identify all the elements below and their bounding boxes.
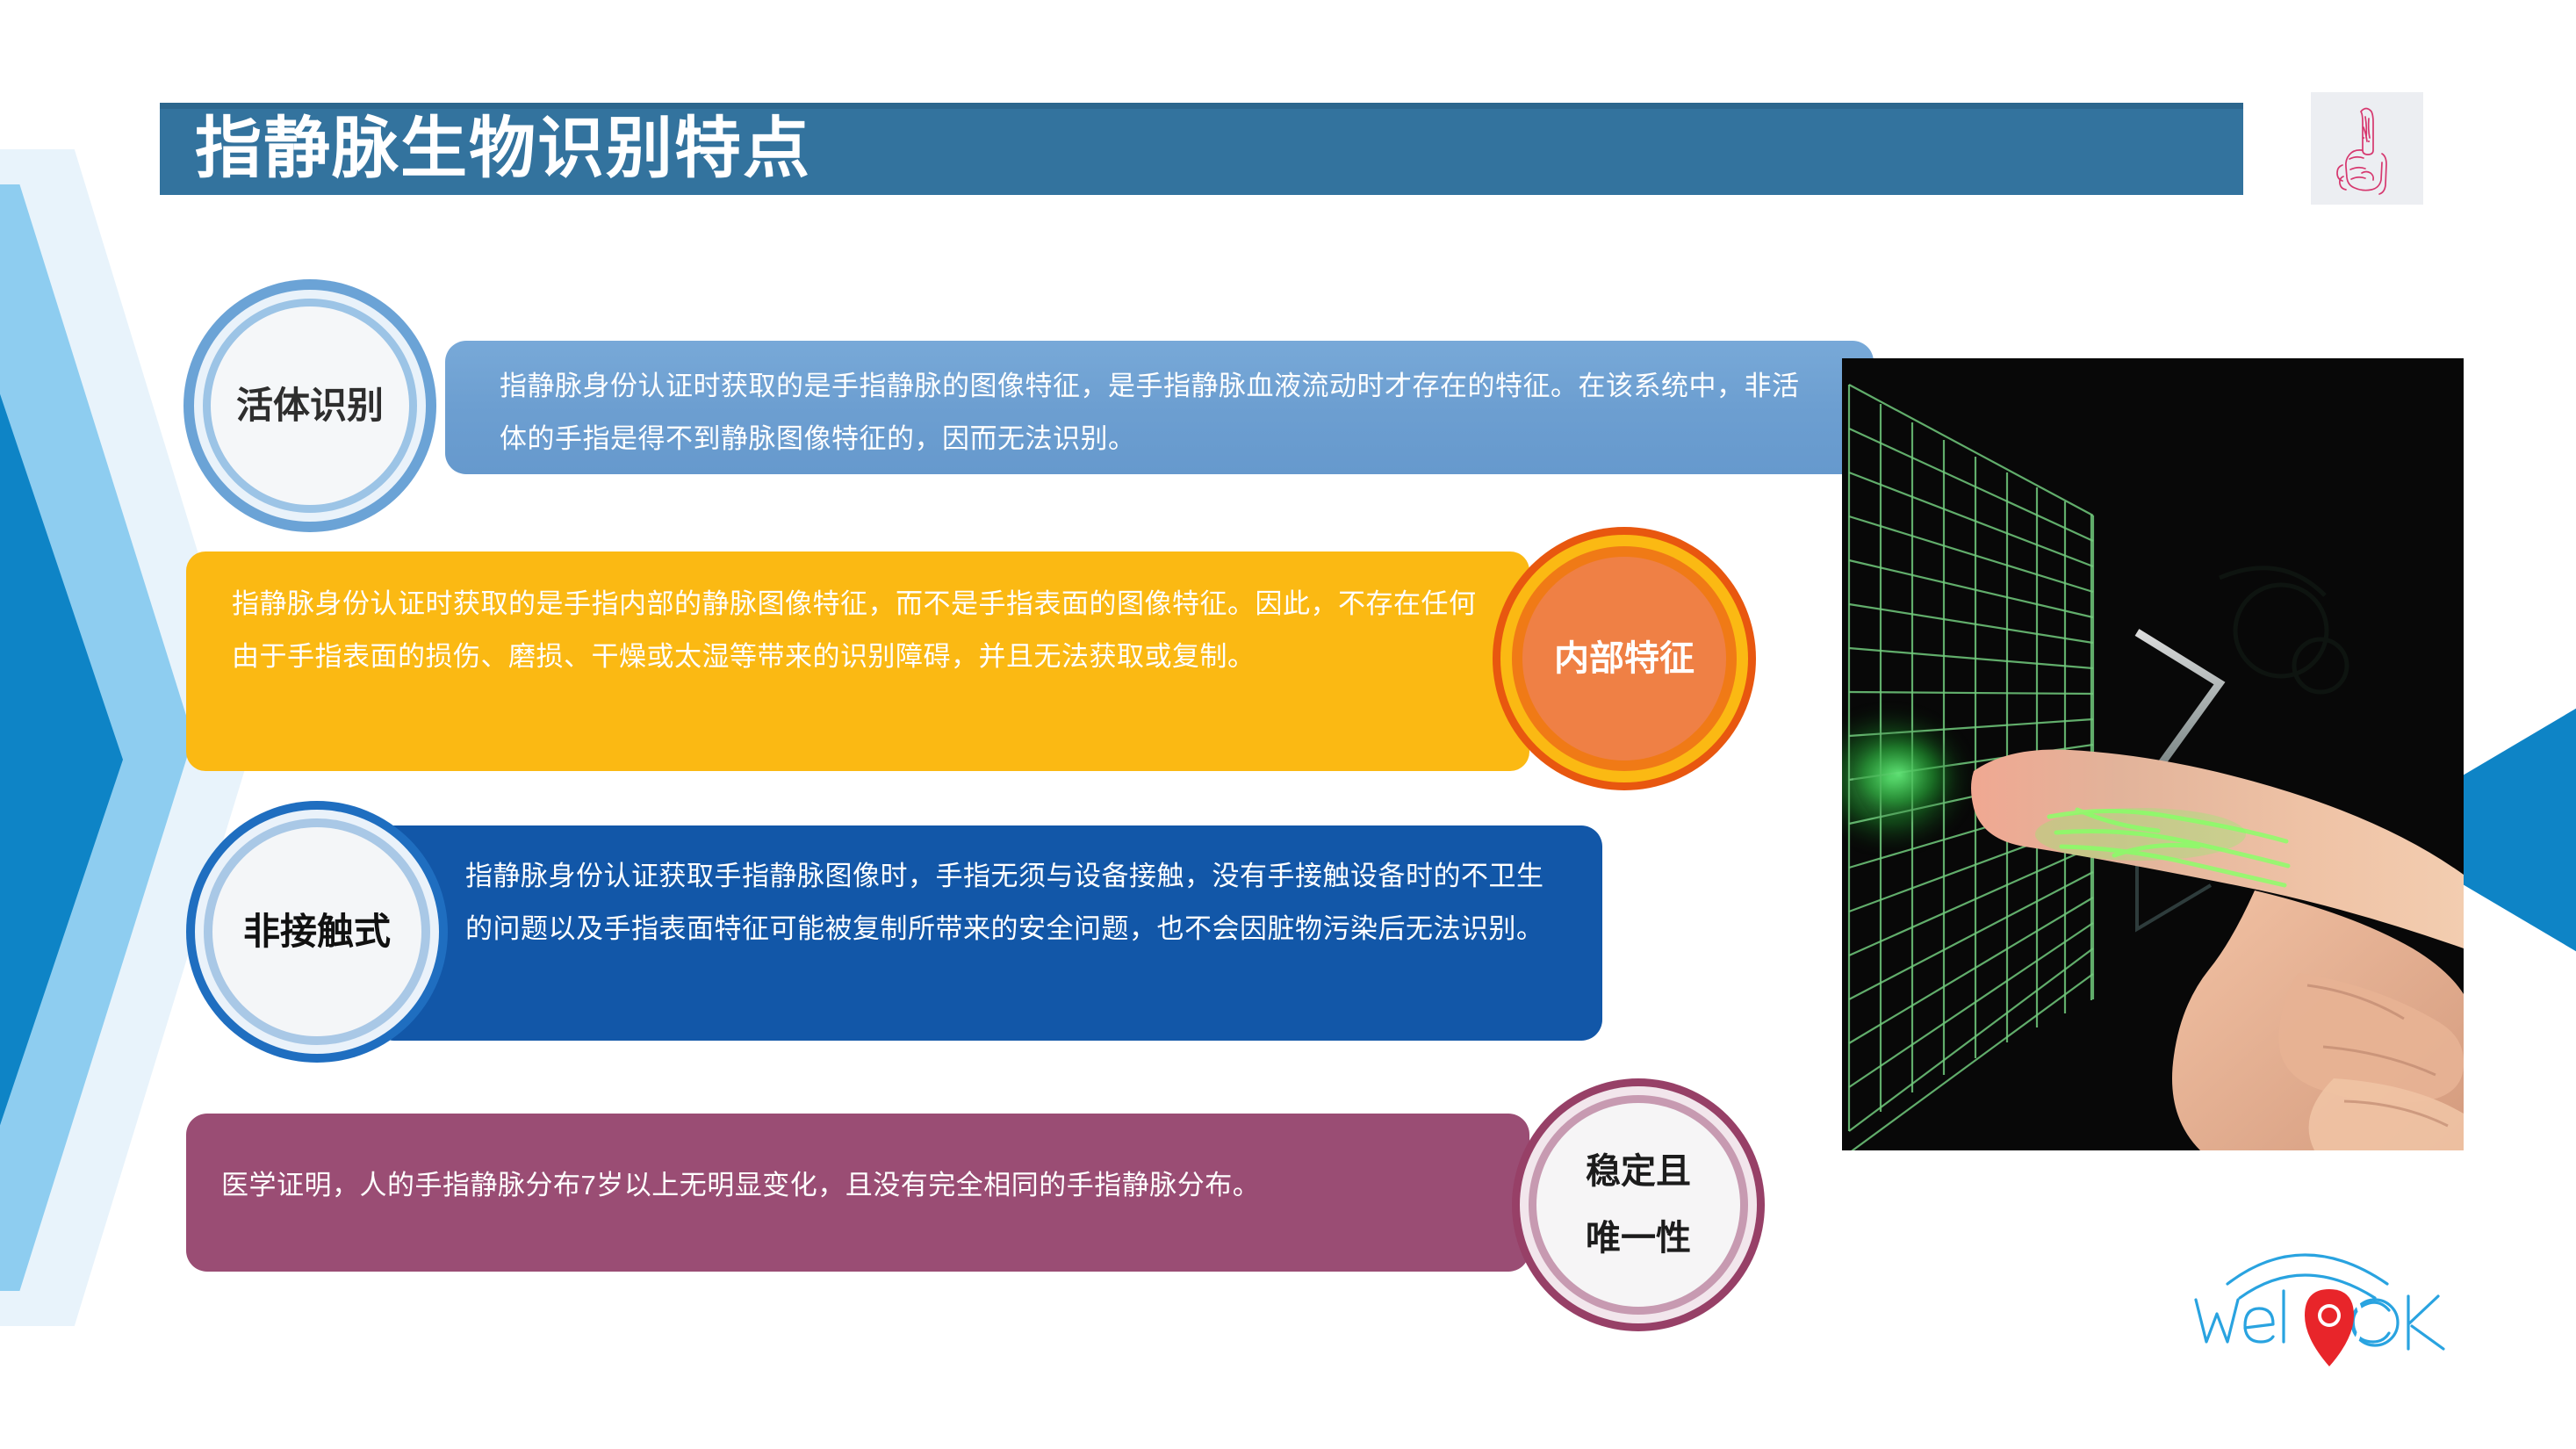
welock-logo xyxy=(2191,1245,2463,1377)
raised-index-finger-vein-icon xyxy=(2311,92,2423,205)
page-title: 指静脉生物识别特点 xyxy=(195,116,811,183)
row-bar-stable-unique: 医学证明，人的手指静脉分布7岁以上无明显变化，且没有完全相同的手指静脉分布。 xyxy=(186,1114,1529,1272)
page-title-bar: 指静脉生物识别特点 xyxy=(160,103,2243,195)
finger-vein-scan-photo xyxy=(1842,358,2464,1150)
badge-label-contactless: 非接触式 xyxy=(243,903,391,960)
row-text-internal-feature: 指静脉身份认证时获取的是手指内部的静脉图像特征，而不是手指表面的图像特征。因此，… xyxy=(232,578,1483,684)
row-bar-contactless: 指静脉身份认证获取手指静脉图像时，手指无须与设备接触，没有手接触设备时的不卫生的… xyxy=(373,825,1602,1041)
row-bar-internal-feature: 指静脉身份认证时获取的是手指内部的静脉图像特征，而不是手指表面的图像特征。因此，… xyxy=(186,551,1529,771)
badge-contactless[interactable]: 非接触式 xyxy=(186,801,448,1063)
badge-stable-unique[interactable]: 稳定且 唯一性 xyxy=(1512,1078,1765,1331)
row-text-stable-unique: 医学证明，人的手指静脉分布7岁以上无明显变化，且没有完全相同的手指静脉分布。 xyxy=(221,1159,1494,1212)
badge-live-detection[interactable]: 活体识别 xyxy=(183,279,436,532)
slide-canvas: 指静脉生物识别特点 指静脉身份认证时获取的是手指静脉的图像特征，是手指静脉血液流… xyxy=(0,0,2576,1449)
wifi-arc-icon xyxy=(2227,1255,2387,1298)
row-text-live-detection: 指静脉身份认证时获取的是手指静脉的图像特征，是手指静脉血液流动时才存在的特征。在… xyxy=(500,360,1817,466)
badge-label-live-detection: 活体识别 xyxy=(236,377,384,434)
badge-label-stable-unique: 稳定且 唯一性 xyxy=(1586,1138,1691,1272)
title-bar-top-shade xyxy=(160,103,2243,109)
row-bar-live-detection: 指静脉身份认证时获取的是手指静脉的图像特征，是手指静脉血液流动时才存在的特征。在… xyxy=(445,341,1874,474)
location-pin-icon xyxy=(2305,1289,2354,1366)
row-text-contactless: 指静脉身份认证获取手指静脉图像时，手指无须与设备接触，没有手接触设备时的不卫生的… xyxy=(465,850,1563,956)
badge-label-internal-feature: 内部特征 xyxy=(1554,631,1695,686)
badge-internal-feature[interactable]: 内部特征 xyxy=(1493,527,1756,790)
